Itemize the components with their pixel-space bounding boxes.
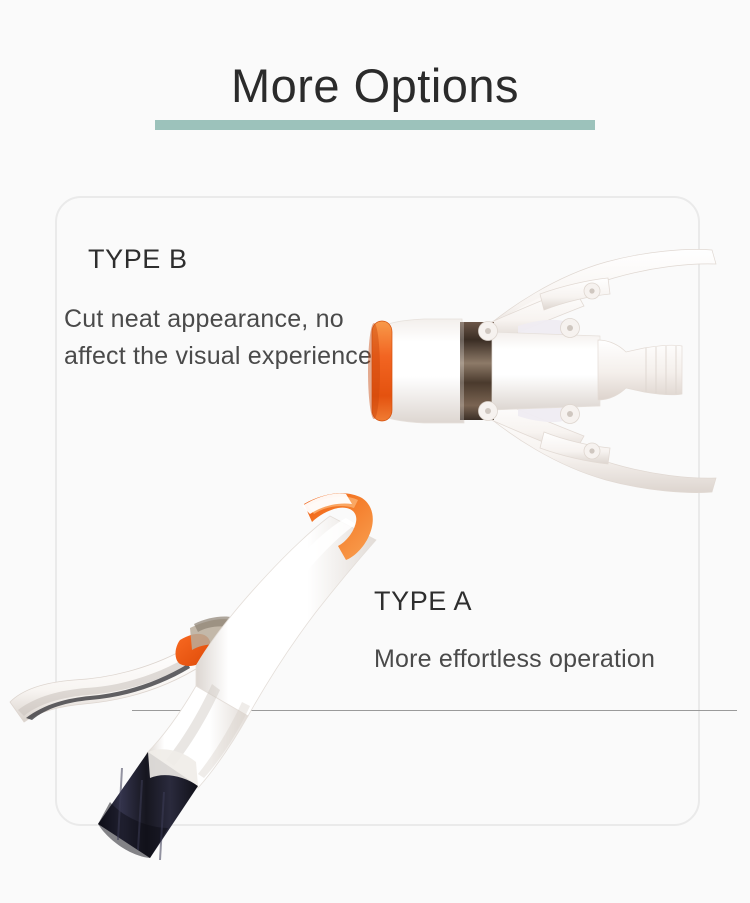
type-a-description: More effortless operation xyxy=(374,641,674,678)
type-b-label: TYPE B xyxy=(88,246,394,273)
page-header: More Options xyxy=(0,0,750,150)
page-title: More Options xyxy=(0,62,750,109)
type-a-label: TYPE A xyxy=(374,588,674,615)
section-divider xyxy=(132,710,737,711)
type-b-description: Cut neat appearance, no affect the visua… xyxy=(64,301,394,375)
option-block-type-a: TYPE A More effortless operation xyxy=(374,588,674,678)
title-underline-bar xyxy=(155,120,595,130)
option-block-type-b: TYPE B Cut neat appearance, no affect th… xyxy=(64,246,394,375)
